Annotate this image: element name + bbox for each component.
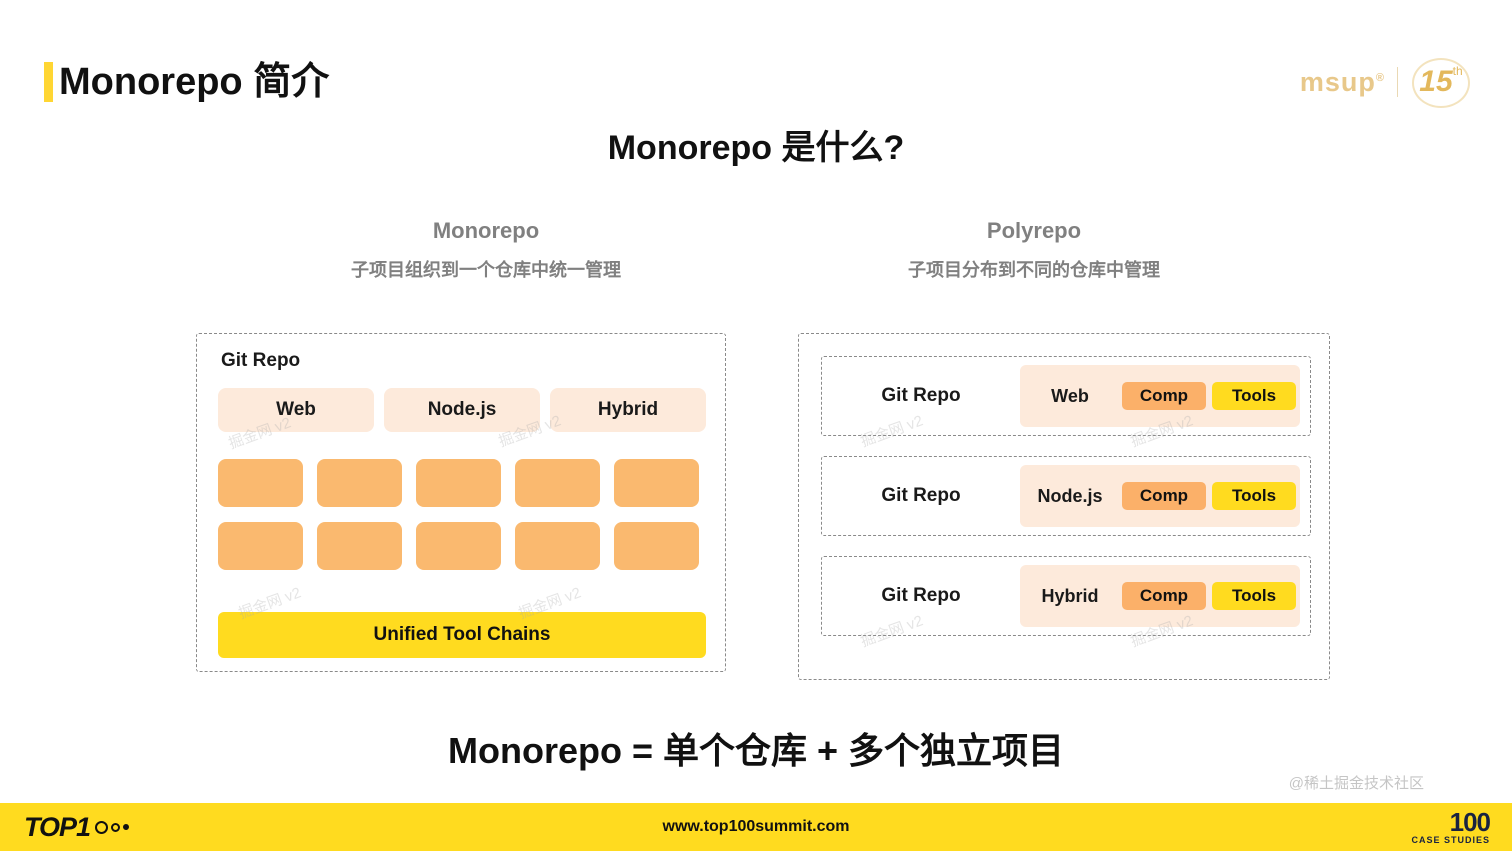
polyrepo-git-repo-label: Git Repo <box>822 385 1020 407</box>
monorepo-module-cell <box>218 522 303 570</box>
brand-msup-name: msup <box>1300 67 1376 97</box>
polyrepo-project-group: Web Comp Tools <box>1020 365 1300 427</box>
monorepo-module-cell <box>515 459 600 507</box>
polyrepo-project-name: Web <box>1024 386 1116 407</box>
monorepo-project-row: Web Node.js Hybrid <box>218 388 706 432</box>
monorepo-module-row <box>218 459 708 507</box>
polyrepo-diagram: Git Repo Web Comp Tools Git Repo Node.js… <box>798 333 1330 680</box>
polyrepo-git-repo-label: Git Repo <box>822 585 1020 607</box>
polyrepo-repo-row: Git Repo Node.js Comp Tools <box>821 456 1311 536</box>
brand-logo: msup® 15 th <box>1300 58 1472 106</box>
polyrepo-project-name: Node.js <box>1024 486 1116 507</box>
footer-brand-right: 100 CASE STUDIES <box>1411 809 1490 846</box>
polyrepo-chip-comp: Comp <box>1122 482 1206 510</box>
polyrepo-chip-tools: Tools <box>1212 382 1296 410</box>
monorepo-module-cell <box>515 522 600 570</box>
monorepo-module-cell <box>317 459 402 507</box>
polyrepo-chip-comp: Comp <box>1122 382 1206 410</box>
main-heading: Monorepo 是什么? <box>0 120 1512 169</box>
polyrepo-chip-comp: Comp <box>1122 582 1206 610</box>
polyrepo-project-group: Hybrid Comp Tools <box>1020 565 1300 627</box>
monorepo-project-nodejs: Node.js <box>384 388 540 432</box>
footer-100-text: 100 <box>1411 809 1490 836</box>
footer-case-studies-text: CASE STUDIES <box>1411 836 1490 845</box>
page-title-text: Monorepo 简介 <box>59 63 329 101</box>
footer-watermark: @稀土掘金技术社区 <box>1289 772 1424 793</box>
monorepo-project-hybrid: Hybrid <box>550 388 706 432</box>
monorepo-module-cell <box>416 459 501 507</box>
polyrepo-subtitle: 子项目分布到不同的仓库中管理 <box>744 256 1324 282</box>
brand-divider <box>1397 67 1398 97</box>
polyrepo-column-heading: Polyrepo 子项目分布到不同的仓库中管理 <box>744 218 1324 282</box>
monorepo-module-cell <box>317 522 402 570</box>
monorepo-module-row <box>218 522 708 570</box>
monorepo-git-repo-label: Git Repo <box>221 350 300 372</box>
summary-formula: Monorepo = 单个仓库 + 多个独立项目 <box>0 722 1512 774</box>
anniversary-ring-icon <box>1412 58 1470 108</box>
polyrepo-project-group: Node.js Comp Tools <box>1020 465 1300 527</box>
monorepo-module-cell <box>416 522 501 570</box>
monorepo-column-heading: Monorepo 子项目组织到一个仓库中统一管理 <box>196 218 776 282</box>
polyrepo-repo-row: Git Repo Hybrid Comp Tools <box>821 556 1311 636</box>
monorepo-module-grid <box>218 459 708 585</box>
polyrepo-title: Polyrepo <box>744 218 1324 244</box>
monorepo-module-cell <box>218 459 303 507</box>
polyrepo-project-name: Hybrid <box>1024 586 1116 607</box>
brand-msup-text: msup® <box>1300 67 1385 98</box>
polyrepo-git-repo-label: Git Repo <box>822 485 1020 507</box>
monorepo-module-cell <box>614 459 699 507</box>
polyrepo-chip-tools: Tools <box>1212 582 1296 610</box>
monorepo-module-cell <box>614 522 699 570</box>
footer-url[interactable]: www.top100summit.com <box>0 818 1512 836</box>
footer-bar: TOP1 www.top100summit.com 100 CASE STUDI… <box>0 803 1512 851</box>
monorepo-diagram: Git Repo Web Node.js Hybrid Unified Tool… <box>196 333 726 672</box>
unified-tool-chains-bar: Unified Tool Chains <box>218 612 706 658</box>
monorepo-project-web: Web <box>218 388 374 432</box>
title-accent-bar <box>44 62 53 102</box>
monorepo-title: Monorepo <box>196 218 776 244</box>
polyrepo-chip-tools: Tools <box>1212 482 1296 510</box>
polyrepo-repo-row: Git Repo Web Comp Tools <box>821 356 1311 436</box>
anniversary-badge: 15 th <box>1410 58 1472 106</box>
page-title: Monorepo 简介 <box>44 62 329 102</box>
brand-registered-mark: ® <box>1376 72 1385 84</box>
monorepo-subtitle: 子项目组织到一个仓库中统一管理 <box>196 256 776 282</box>
